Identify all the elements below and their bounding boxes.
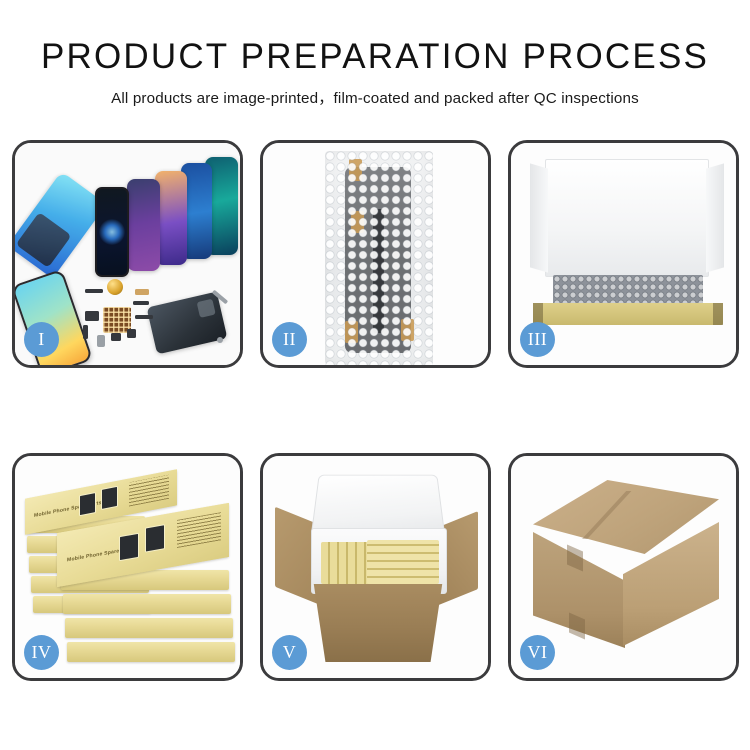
process-step-panel-5[interactable]: V — [260, 453, 491, 681]
part-strip-icon — [85, 289, 103, 293]
product-preparation-infographic: PRODUCT PREPARATION PROCESS All products… — [0, 0, 750, 750]
box-window-icon — [119, 533, 139, 562]
stack-box-body — [67, 642, 235, 662]
process-step-panel-3[interactable]: III — [508, 140, 739, 368]
yellow-boxes-stack-icon — [367, 540, 439, 584]
part-cable-icon — [135, 315, 153, 319]
part-tan-icon — [135, 289, 149, 295]
foam-box-lid-icon — [311, 475, 445, 535]
step-badge-4: IV — [24, 635, 59, 670]
step-badge-2: II — [272, 322, 307, 357]
header: PRODUCT PREPARATION PROCESS All products… — [0, 0, 750, 108]
process-step-panel-6[interactable]: VI — [508, 453, 739, 681]
carton-body-icon — [305, 584, 451, 662]
box-window-icon — [101, 486, 118, 510]
part-bracket-icon — [85, 311, 99, 321]
page-title: PRODUCT PREPARATION PROCESS — [0, 36, 750, 77]
box-window-icon — [145, 524, 165, 553]
foam-lid-icon — [545, 159, 709, 277]
stack-box-body — [63, 594, 231, 614]
bubble-texture — [325, 151, 433, 365]
part-pin-icon — [83, 325, 88, 339]
step-badge-1: I — [24, 322, 59, 357]
bubble-bag-icon — [325, 151, 433, 365]
box-window-icon — [79, 492, 96, 516]
part-camera-icon — [97, 335, 105, 347]
process-step-panel-4[interactable]: Mobile Phone Spare Parts Mobile Phone Sp… — [12, 453, 243, 681]
step-badge-5: V — [272, 635, 307, 670]
process-step-panel-2[interactable]: II — [260, 140, 491, 368]
part-flex-icon — [133, 301, 149, 305]
step-badge-3: III — [520, 322, 555, 357]
phone-black-screen-icon — [95, 187, 129, 277]
page-subtitle: All products are image-printed，film-coat… — [0, 86, 750, 108]
gold-chip-icon — [107, 279, 123, 295]
process-step-grid: I II — [12, 140, 741, 681]
phone-violet-icon — [127, 179, 160, 271]
box-stack: Mobile Phone Spare Parts Mobile Phone Sp… — [23, 470, 237, 670]
step-badge-6: VI — [520, 635, 555, 670]
process-step-panel-1[interactable]: I — [12, 140, 243, 368]
screw-icon — [217, 337, 223, 343]
part-speaker-icon — [111, 333, 121, 341]
part-button-icon — [127, 329, 136, 338]
tray-front-panel — [533, 303, 723, 325]
stack-box-body — [65, 618, 233, 638]
